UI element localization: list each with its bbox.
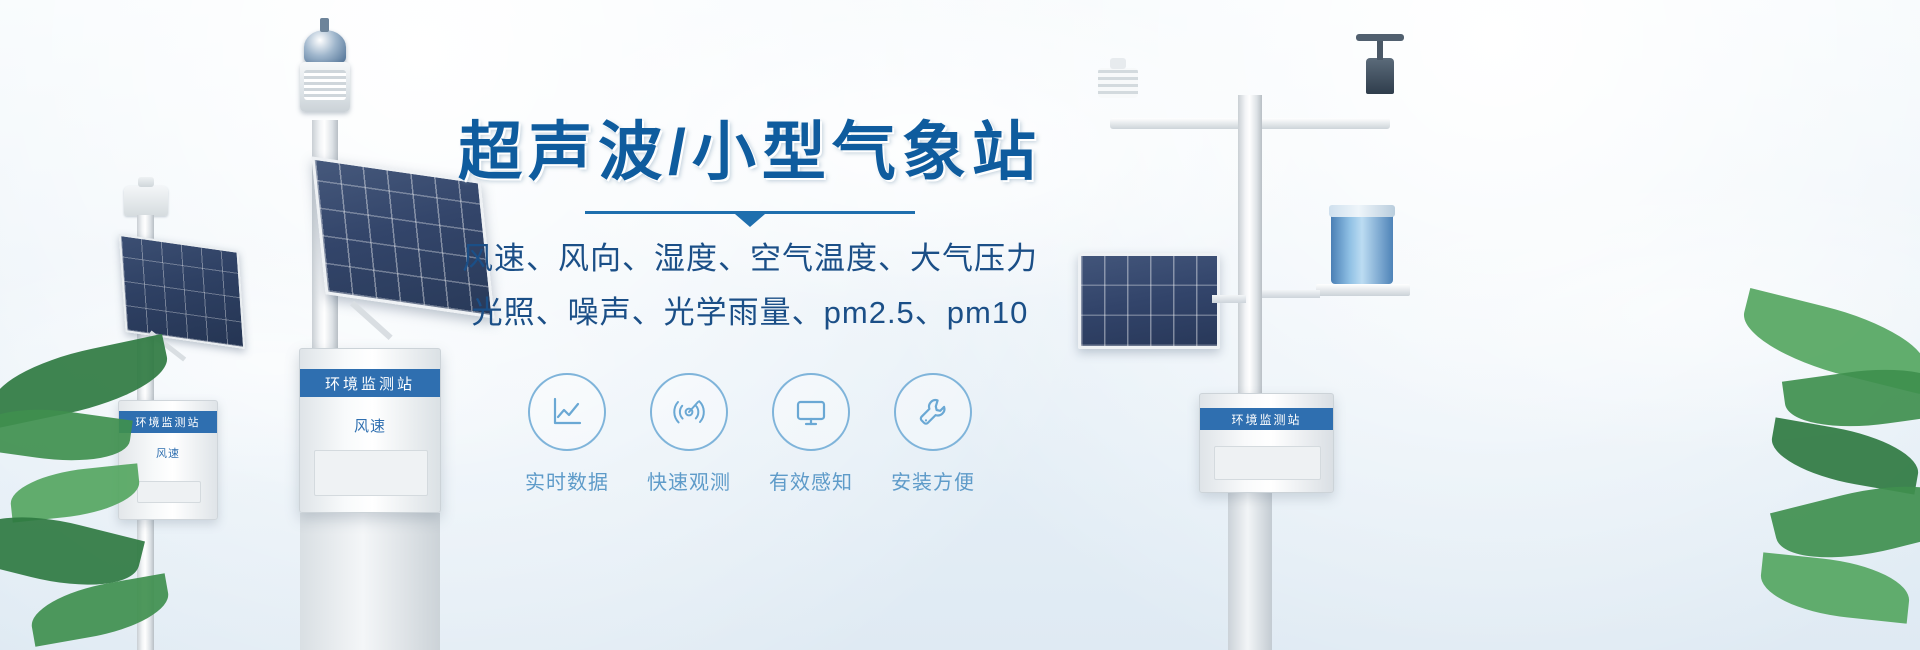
center-cabinet-brand: 风速 (300, 415, 440, 436)
subtitle-line-1: 风速、风向、湿度、空气温度、大气压力 (462, 235, 1038, 283)
right-panel-support-arm (1212, 295, 1246, 303)
right-radiation-shield (1098, 68, 1138, 98)
subtitle-line-2: 光照、噪声、光学雨量、pm2.5、pm10 (462, 289, 1038, 337)
leaf-icon (1767, 417, 1920, 494)
feature-item-fast-observation[interactable]: 快速观测 (650, 373, 728, 495)
right-rain-gauge (1331, 212, 1393, 284)
left-cabinet-brand: 风速 (119, 445, 217, 461)
feature-item-easy-install[interactable]: 安装方便 (894, 373, 972, 495)
left-solar-panel (119, 234, 245, 349)
divider-arrow-icon (735, 214, 765, 227)
center-radiation-shield (300, 62, 350, 112)
left-control-cabinet: 环境监测站 风速 (118, 400, 218, 520)
wrench-tool-icon (894, 373, 972, 451)
banner-content: 超声波/小型气象站 风速、风向、湿度、空气温度、大气压力 光照、噪声、光学雨量、… (440, 0, 1060, 650)
center-cabinet-door (314, 450, 428, 496)
feature-list: 实时数据 快速观测 (528, 373, 972, 495)
right-solar-panel (1078, 253, 1220, 349)
product-banner: 环境监测站 风速 环境监测站 风速 环境监测站 (0, 0, 1920, 650)
banner-title: 超声波/小型气象站 (458, 118, 1042, 187)
center-cabinet-tag: 环境监测站 (300, 369, 440, 397)
center-control-cabinet: 环境监测站 风速 (299, 348, 441, 513)
monitor-screen-icon (772, 373, 850, 451)
right-cabinet-tag: 环境监测站 (1200, 408, 1333, 430)
feature-label: 有效感知 (769, 466, 853, 495)
right-cabinet-door (1214, 446, 1321, 480)
line-chart-icon (528, 373, 606, 451)
right-lower-pole (1228, 493, 1272, 650)
feature-item-realtime-data[interactable]: 实时数据 (528, 373, 606, 495)
leaf-icon (1757, 552, 1912, 623)
left-cabinet-tag: 环境监测站 (119, 411, 217, 433)
right-shelf-support-arm (1262, 290, 1320, 298)
left-sensor-head-icon (124, 186, 168, 216)
right-instrument-shelf (1316, 284, 1410, 296)
center-panel-brace (350, 301, 393, 340)
radar-scan-icon (650, 373, 728, 451)
right-wind-vane-icon (1366, 58, 1394, 94)
center-ultrasonic-dome-icon (304, 30, 346, 64)
feature-label: 安装方便 (891, 466, 975, 495)
banner-subtitle: 风速、风向、湿度、空气温度、大气压力 光照、噪声、光学雨量、pm2.5、pm10 (462, 235, 1038, 337)
left-cabinet-door (137, 481, 201, 503)
feature-label: 实时数据 (525, 466, 609, 495)
feature-item-effective-sensing[interactable]: 有效感知 (772, 373, 850, 495)
feature-label: 快速观测 (647, 466, 731, 495)
right-control-cabinet: 环境监测站 (1199, 393, 1334, 493)
center-cabinet-base (300, 513, 440, 650)
